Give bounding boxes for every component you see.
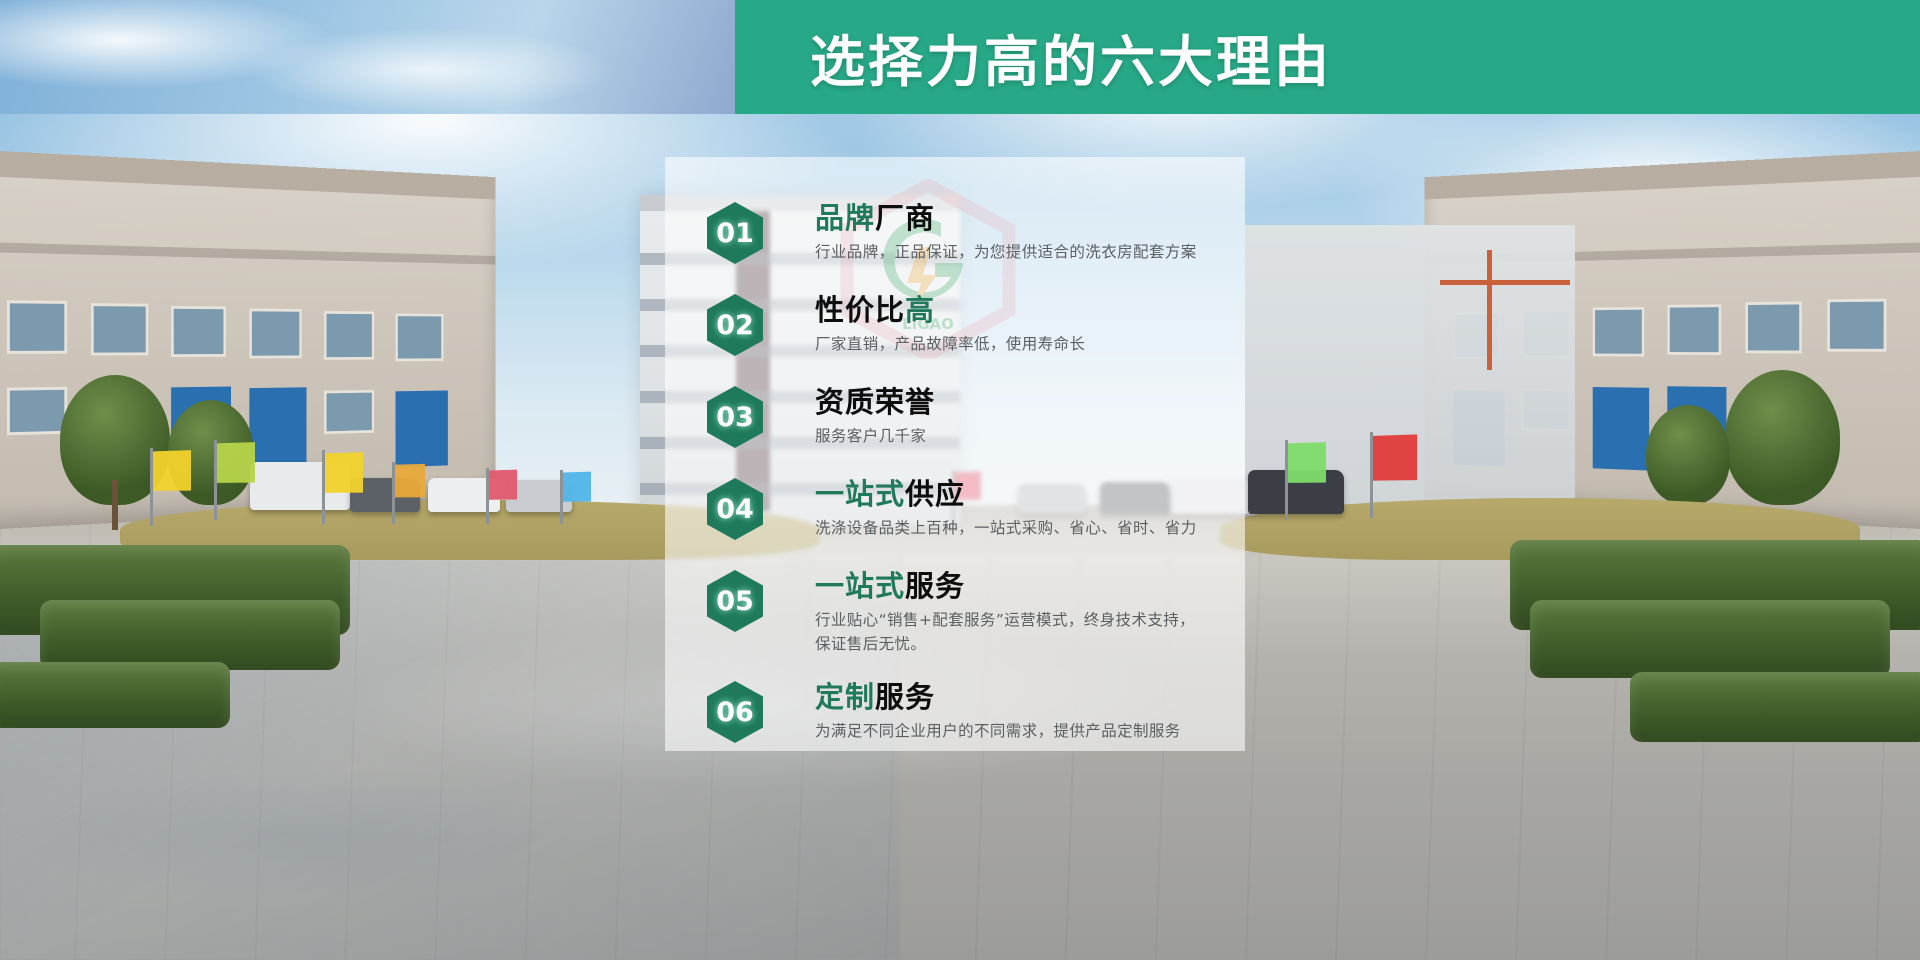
reasons-list: 01 品牌厂商 行业品牌，正品保证，为您提供适合的洗衣房配套方案 02 [665,157,1245,202]
tree-trunk [112,480,118,530]
reason-number-05: 05 [716,586,754,617]
reason-title-05: 一站式服务 [815,570,1207,602]
flag-yellow [325,447,363,500]
reason-title-dark-05: 服务 [905,569,965,603]
reason-desc-03: 服务客户几千家 [815,425,1207,449]
tree [1646,405,1730,505]
flag-pole [322,450,325,524]
reason-number-02: 02 [716,310,754,341]
reason-desc-01: 行业品牌，正品保证，为您提供适合的洗衣房配套方案 [815,241,1207,265]
reason-title-04: 一站式供应 [815,478,1207,510]
reason-title-dark-03: 资质荣誉 [815,385,935,419]
reason-title-03: 资质荣誉 [815,386,1207,418]
reason-title-green-05: 一站式 [815,569,905,603]
reason-number-badge-02: 02 [707,294,763,356]
flag-pole [560,470,563,524]
reason-number-03: 03 [716,402,754,433]
flag-pole [150,448,153,526]
reason-desc-04: 洗涤设备品类上百种，一站式采购、省心、省时、省力 [815,517,1207,541]
flag-pole [1285,440,1288,520]
reason-desc-line: 行业贴心“销售+配套服务”运营模式，终身技术支持， [815,609,1207,633]
reason-title-dark-02: 性价比 [815,293,905,327]
reason-number-badge-05: 05 [707,570,763,632]
reason-title-dark-01: 厂商 [875,201,935,235]
reason-title-dark-04: 供应 [905,477,965,511]
reason-desc-line: 为满足不同企业用户的不同需求，提供产品定制服务 [815,720,1207,744]
reason-item-04[interactable]: 04 一站式供应 洗涤设备品类上百种，一站式采购、省心、省时、省力 [707,478,1207,541]
hedge-right-bottom [1630,672,1920,742]
page-title: 选择力高的六大理由 [735,0,1920,114]
flag-red [489,466,517,505]
flag-orange [395,459,425,502]
flag-pole [392,462,395,524]
reason-number-04: 04 [716,494,754,525]
crane-mast [1487,250,1492,370]
reason-desc-line: 洗涤设备品类上百种，一站式采购、省心、省时、省力 [815,517,1207,541]
reason-desc-line: 服务客户几千家 [815,425,1207,449]
reason-desc-line: 行业品牌，正品保证，为您提供适合的洗衣房配套方案 [815,241,1207,265]
flag-green [1288,437,1326,490]
reason-title-02: 性价比高 [815,294,1207,326]
reason-desc-06: 为满足不同企业用户的不同需求，提供产品定制服务 [815,720,1207,744]
header-green-bar: 选择力高的六大理由 [735,0,1920,114]
reason-desc-02: 厂家直销，产品故障率低，使用寿命长 [815,333,1207,357]
reason-item-06[interactable]: 06 定制服务 为满足不同企业用户的不同需求，提供产品定制服务 [707,681,1207,744]
reason-body-05: 一站式服务 行业贴心“销售+配套服务”运营模式，终身技术支持， 保证售后无忧。 [815,570,1207,657]
reason-title-green-01: 品牌 [815,201,875,235]
reason-desc-line: 厂家直销，产品故障率低，使用寿命长 [815,333,1207,357]
reason-desc-line: 保证售后无忧。 [815,633,1207,657]
flag-yellow [153,445,191,498]
tree [1725,370,1840,505]
reason-number-06: 06 [716,697,754,728]
reason-number-badge-04: 04 [707,478,763,540]
reason-body-01: 品牌厂商 行业品牌，正品保证，为您提供适合的洗衣房配套方案 [815,202,1207,265]
header-sky-gradient [0,0,735,114]
hedge-left-lower [40,600,340,670]
flag-pole [486,468,489,524]
reason-item-03[interactable]: 03 资质荣誉 服务客户几千家 [707,386,1207,449]
flag-pole [1370,432,1373,518]
flag-blue [563,468,591,507]
reason-desc-05: 行业贴心“销售+配套服务”运营模式，终身技术支持， 保证售后无忧。 [815,609,1207,656]
reason-number-01: 01 [716,218,754,249]
reason-title-green-02: 高 [905,293,935,327]
flag-green [217,437,255,490]
header-band: 选择力高的六大理由 [0,0,1920,114]
reason-item-02[interactable]: 02 性价比高 厂家直销，产品故障率低，使用寿命长 [707,294,1207,357]
reason-title-green-04: 一站式 [815,477,905,511]
reason-item-05[interactable]: 05 一站式服务 行业贴心“销售+配套服务”运营模式，终身技术支持， 保证售后无… [707,570,1207,657]
reason-title-01: 品牌厂商 [815,202,1207,234]
poster-stage: 选择力高的六大理由 LIGAO 01 品牌厂商 行业品 [0,0,1920,960]
reason-number-badge-06: 06 [707,681,763,743]
reason-number-badge-03: 03 [707,386,763,448]
reason-body-02: 性价比高 厂家直销，产品故障率低，使用寿命长 [815,294,1207,357]
reason-body-06: 定制服务 为满足不同企业用户的不同需求，提供产品定制服务 [815,681,1207,744]
hedge-left-bottom [0,662,230,728]
reason-body-04: 一站式供应 洗涤设备品类上百种，一站式采购、省心、省时、省力 [815,478,1207,541]
reason-number-badge-01: 01 [707,202,763,264]
reasons-panel: LIGAO 01 品牌厂商 行业品牌，正品保证，为您提供适合的洗衣房配套方案 [665,157,1245,751]
reason-title-green-06: 定制 [815,680,875,714]
crane-jib [1440,280,1570,285]
reason-body-03: 资质荣誉 服务客户几千家 [815,386,1207,449]
reason-item-01[interactable]: 01 品牌厂商 行业品牌，正品保证，为您提供适合的洗衣房配套方案 [707,202,1207,265]
flag-red [1373,428,1417,488]
reason-title-06: 定制服务 [815,681,1207,713]
reason-title-dark-06: 服务 [875,680,935,714]
hedge-right-lower [1530,600,1890,678]
flag-pole [214,440,217,520]
